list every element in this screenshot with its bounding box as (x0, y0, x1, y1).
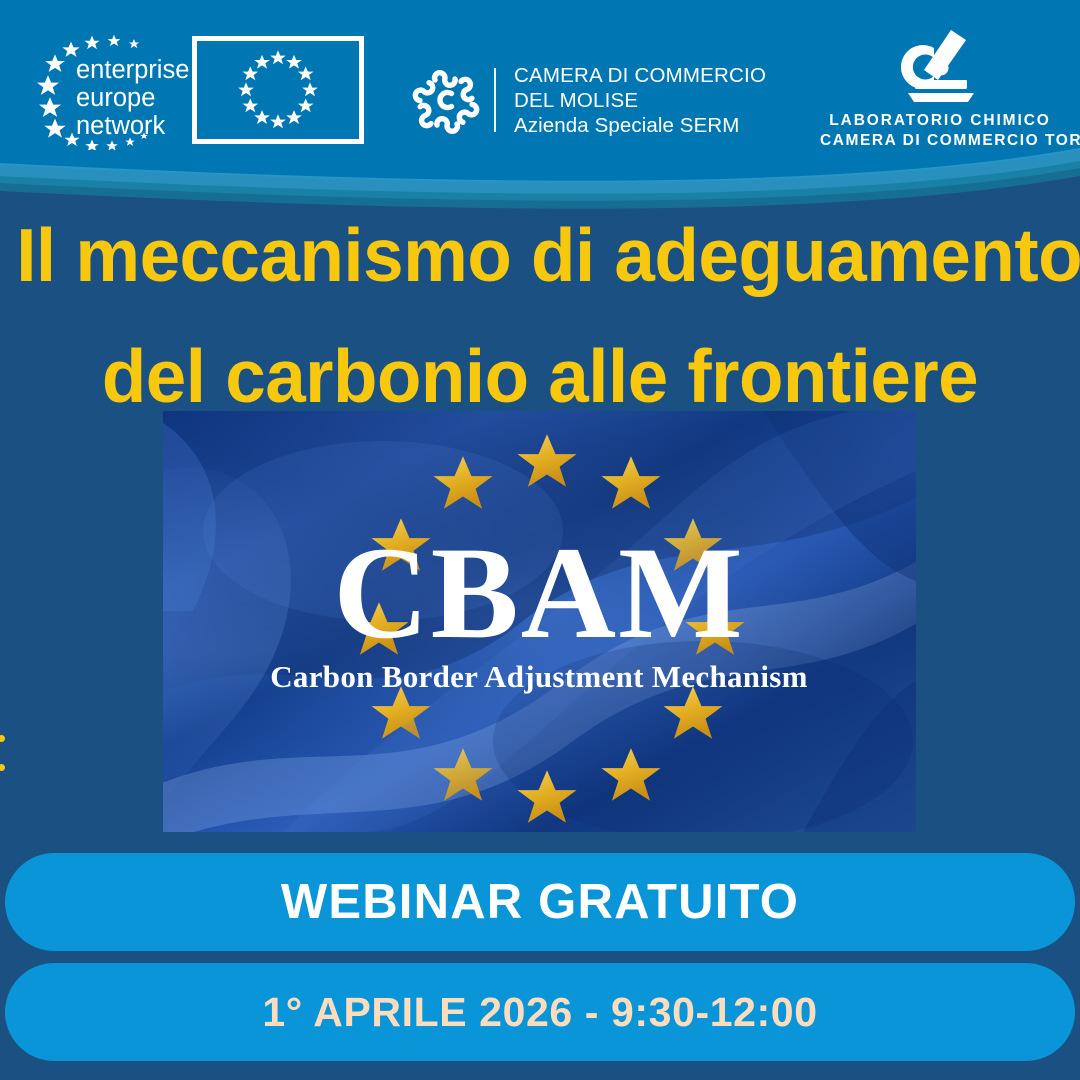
een-line-1: enterprise (76, 56, 189, 84)
decorative-dots (0, 735, 5, 793)
serm-line-3: Azienda Speciale SERM (514, 113, 766, 138)
enterprise-europe-network-logo: enterprise europe network (26, 30, 194, 150)
cbam-flag-graphic: CBAM Carbon Border Adjustment Mechanism (163, 411, 916, 832)
header-band: enterprise europe network (0, 0, 1080, 215)
title-line-2: del carbonio alle frontiere (16, 339, 1064, 414)
eu-flag-icon (192, 36, 364, 144)
serm-line-2: DEL MOLISE (514, 88, 766, 113)
webinar-banner-label: WEBINAR GRATUITO (281, 874, 799, 930)
serm-flower-icon (408, 62, 484, 138)
een-logo-icon: enterprise europe network (26, 30, 194, 150)
european-union-flag-logo (192, 36, 364, 144)
lab-line-1: LABORATORIO CHIMICO (820, 112, 1060, 130)
microscope-icon (894, 28, 986, 104)
serm-line-1: CAMERA DI COMMERCIO (514, 63, 766, 88)
header-logo-row: enterprise europe network (0, 0, 1080, 160)
poster-title: Il meccanismo di adeguamento del carboni… (0, 218, 1080, 414)
cbam-subtitle: Carbon Border Adjustment Mechanism (270, 659, 808, 694)
date-banner: 1° APRILE 2026 - 9:30-12:00 (5, 963, 1075, 1061)
date-banner-label: 1° APRILE 2026 - 9:30-12:00 (262, 989, 817, 1036)
cbam-acronym: CBAM (333, 519, 744, 666)
een-line-3: network (76, 112, 166, 140)
serm-text-block: CAMERA DI COMMERCIO DEL MOLISE Azienda S… (514, 63, 766, 138)
een-line-2: europe (76, 84, 155, 112)
camera-di-commercio-molise-logo: CAMERA DI COMMERCIO DEL MOLISE Azienda S… (408, 62, 766, 138)
lab-line-2: CAMERA DI COMMERCIO TORINO (820, 132, 1060, 150)
title-line-1: Il meccanismo di adeguamento (16, 218, 1064, 293)
poster-canvas: enterprise europe network (0, 0, 1080, 1080)
webinar-banner: WEBINAR GRATUITO (5, 853, 1075, 951)
cbam-flag-image: CBAM Carbon Border Adjustment Mechanism (163, 411, 916, 832)
laboratorio-chimico-logo: LABORATORIO CHIMICO CAMERA DI COMMERCIO … (820, 28, 1060, 150)
serm-divider (494, 68, 496, 132)
